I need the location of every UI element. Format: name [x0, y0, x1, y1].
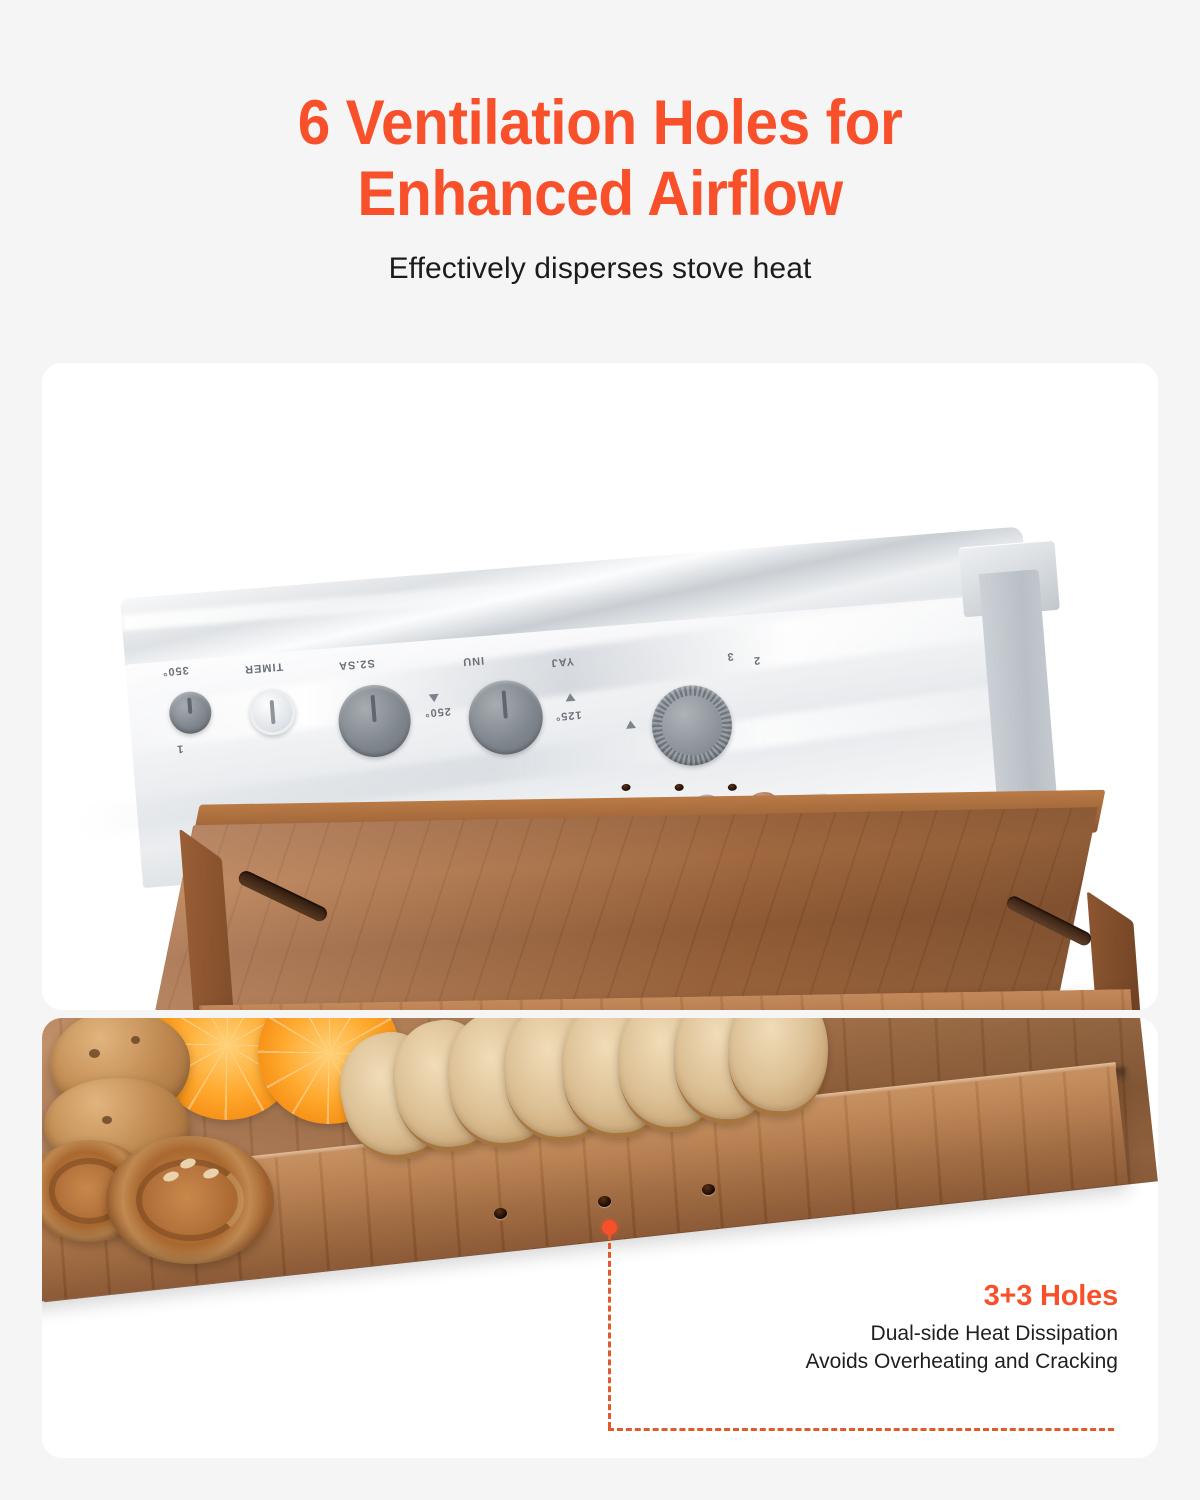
knob-cap	[659, 693, 724, 758]
tray-inner-surface	[143, 807, 1098, 1010]
panel-triangle-1	[429, 694, 440, 703]
scone-bit	[131, 1036, 140, 1044]
knob-pointer	[502, 691, 508, 719]
callout-marker-dot	[602, 1220, 617, 1235]
callout-text-block: 3+3 Holes Dual-side Heat Dissipation Avo…	[598, 1280, 1118, 1375]
panel-label-temp-2: 125°	[554, 708, 582, 722]
header: 6 Ventilation Holes for Enhanced Airflow…	[0, 0, 1200, 286]
panel-label-knob3b: YAJ	[550, 655, 574, 669]
timer-slot	[270, 700, 276, 724]
vent-hole-back-2	[674, 784, 684, 792]
knob-pointer	[187, 697, 192, 713]
scone-bit	[89, 1049, 100, 1058]
callout-title: 3+3 Holes	[598, 1280, 1118, 1313]
headline-line-1: 6 Ventilation Holes for	[42, 88, 1158, 159]
panel-label-knob2: S2.SA	[338, 657, 376, 672]
panel-label-temp-1: 250°	[424, 705, 452, 719]
panel-label-timer: TIMER	[244, 660, 284, 675]
knob-pointer	[371, 695, 377, 723]
food-tray-card: 3+3 Holes Dual-side Heat Dissipation Avo…	[42, 1018, 1158, 1458]
callout-line-1: Dual-side Heat Dissipation	[598, 1320, 1118, 1348]
panel-label-top-left: 350°	[161, 664, 189, 678]
panel-triangle-2	[565, 693, 576, 702]
panel-label-numbers: 3	[726, 650, 734, 663]
page-title: 6 Ventilation Holes for Enhanced Airflow	[42, 88, 1158, 230]
callout-line-horizontal	[608, 1428, 1114, 1431]
cinnamon-roll-2	[106, 1136, 274, 1264]
panel-triangle-3	[625, 720, 636, 729]
scene-food-tray: 3+3 Holes Dual-side Heat Dissipation Avo…	[42, 1018, 1158, 1458]
scene-stove-tray: 350° 1 TIMER S2.SA 250° INU	[42, 363, 1158, 1010]
callout-line-2: Avoids Overheating and Cracking	[598, 1348, 1118, 1376]
headline-line-2: Enhanced Airflow	[42, 159, 1158, 230]
scone-bit	[102, 1116, 112, 1124]
page-subtitle: Effectively disperses stove heat	[0, 252, 1200, 286]
vent-hole-back-3	[728, 783, 738, 791]
panel-label-knob3: INU	[462, 654, 485, 668]
vent-hole-back-1	[621, 784, 631, 792]
panel-label-bottom-left: 1	[176, 742, 184, 755]
roll-swirl	[136, 1159, 244, 1241]
stove-tray-card: 350° 1 TIMER S2.SA 250° INU	[42, 363, 1158, 1010]
panel-label-numbers-2: 2	[752, 654, 760, 667]
